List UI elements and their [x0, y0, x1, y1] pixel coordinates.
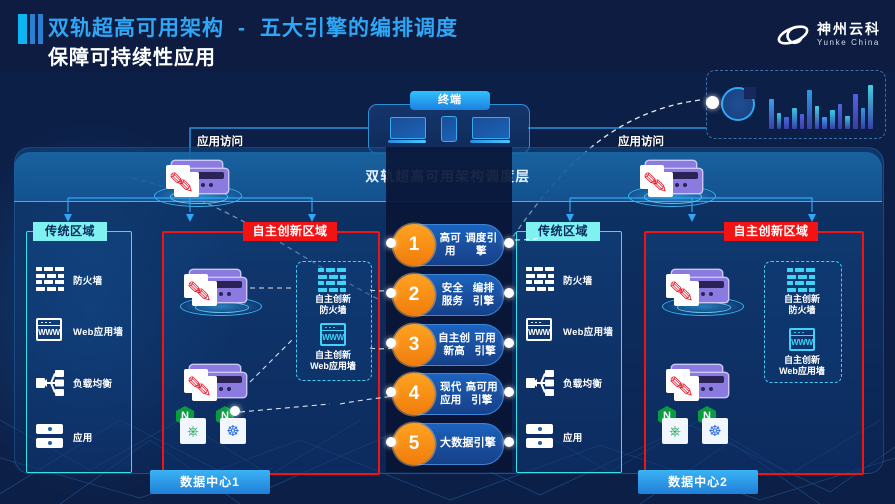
title-dash: -: [224, 17, 260, 40]
appliance-dc2-a: ✎ ✎: [666, 270, 728, 304]
service-label: 防火墙: [73, 273, 102, 287]
connector-node-dc1: [230, 406, 240, 416]
service-firewall-dc2: 防火墙: [526, 267, 592, 293]
service-label: Web应用墙: [73, 324, 123, 338]
brand-swirl-icon: ✎: [178, 178, 194, 197]
service-loadbalancer-dc2: 负载均衡: [526, 370, 602, 396]
kubernetes-icon-dc1: ☸: [220, 418, 246, 444]
datacenter-label-1: 数据中心1: [150, 470, 270, 494]
laptop-icon-left: [388, 117, 426, 143]
firewall-icon: [36, 267, 64, 293]
engine-connector-node-right: [504, 437, 514, 447]
application-icon: [526, 424, 554, 450]
application-icon: [36, 424, 64, 450]
engine-number-badge: 4: [393, 373, 435, 415]
service-mesh-icon-dc1: ⎈: [180, 418, 206, 444]
datacenter-label-2: 数据中心2: [638, 470, 758, 494]
page-title: 双轨超高可用架构-五大引擎的编排调度: [48, 12, 458, 42]
laptop-icon-right: [470, 117, 510, 143]
engine-number-badge: 2: [393, 274, 435, 316]
service-waf-dc1: WWW Web应用墙: [36, 318, 123, 344]
kubernetes-icon-dc2: ☸: [702, 418, 728, 444]
slide-canvas: 双轨超高可用架构-五大引擎的编排调度 保障可持续性应用 神州云科 Yunke C…: [0, 0, 895, 504]
appliance-dc1-b: ✎ ✎: [184, 365, 246, 399]
engine-label: 安全服务编排引擎: [437, 275, 499, 315]
engine-item-1[interactable]: 1高可用调度引擎: [394, 224, 504, 266]
donut-chart-icon: [721, 87, 755, 121]
engine-label: 大数据引擎: [437, 424, 499, 464]
engine-item-4[interactable]: 4现代应用高可用引擎: [394, 373, 504, 415]
bar: [769, 99, 774, 129]
innovation-zone-label-dc2: 自主创新区域: [724, 222, 818, 241]
page-subtitle: 保障可持续性应用: [48, 41, 216, 70]
engine-connector-node-right: [504, 387, 514, 397]
engine-connector-node: [386, 338, 396, 348]
bar: [838, 104, 843, 129]
bar: [822, 117, 827, 129]
engine-connector-node: [386, 437, 396, 447]
bar: [853, 94, 858, 129]
bar: [792, 108, 797, 129]
innovation-firewall-caption-dc1: 自主创新防火墙: [296, 294, 370, 317]
appliance-scheduler-right: ✎ ✎: [640, 161, 702, 195]
service-label: 负载均衡: [563, 376, 602, 390]
engine-connector-node: [386, 238, 396, 248]
load-balancer-icon: [36, 370, 64, 396]
service-label: 负载均衡: [73, 376, 112, 390]
brand-swirl-icon: ✎: [652, 178, 668, 197]
bar: [777, 113, 782, 129]
bar: [830, 110, 835, 129]
logo-text-cn: 神州云科: [817, 22, 881, 37]
service-label: 应用: [563, 430, 583, 444]
engine-connector-node-right: [504, 238, 514, 248]
waf-icon-dc2-inner: WWW: [789, 328, 817, 354]
bar: [800, 114, 805, 129]
service-application-dc2: 应用: [526, 424, 583, 450]
phone-icon: [441, 116, 455, 142]
waf-icon-dc1-inner: WWW: [320, 323, 348, 349]
engine-label: 现代应用高可用引擎: [437, 374, 499, 414]
engine-number-badge: 1: [393, 224, 435, 266]
logo-text-en: Yunke China: [817, 37, 881, 48]
bigdata-widget: [706, 70, 886, 139]
engine-item-5[interactable]: 5大数据引擎: [394, 423, 504, 465]
engine-connector-node: [386, 387, 396, 397]
traditional-zone-label-dc2: 传统区域: [526, 222, 600, 241]
engine-connector-node: [386, 288, 396, 298]
engine-label: 高可用调度引擎: [437, 225, 499, 265]
header: 双轨超高可用架构-五大引擎的编排调度 保障可持续性应用 神州云科 Yunke C…: [0, 0, 895, 72]
bar: [845, 116, 850, 129]
appliance-dc2-b: ✎ ✎: [666, 365, 728, 399]
engine-number-badge: 5: [393, 423, 435, 465]
engine-number-badge: 3: [393, 324, 435, 366]
traditional-zone-label-dc1: 传统区域: [33, 222, 107, 241]
innovation-waf-caption-dc2: 自主创新Web应用墙: [764, 355, 840, 378]
service-label: 应用: [73, 430, 93, 444]
service-label: Web应用墙: [563, 324, 613, 338]
bar: [784, 117, 789, 129]
terminal-badge: 终端: [410, 91, 490, 110]
firewall-icon: [526, 267, 554, 293]
title-sub: 五大引擎的编排调度: [260, 17, 458, 40]
engine-connector-node-right: [504, 338, 514, 348]
logo-swoosh-icon: [776, 22, 810, 48]
engine-connector-node-right: [504, 288, 514, 298]
firewall-icon-dc2-inner: [787, 268, 815, 294]
bar-chart: [769, 81, 873, 129]
title-main: 双轨超高可用架构: [48, 17, 224, 40]
innovation-firewall-caption-dc2: 自主创新防火墙: [764, 294, 840, 317]
bar: [861, 108, 866, 129]
service-loadbalancer-dc1: 负载均衡: [36, 370, 112, 396]
bigdata-connector-node: [706, 96, 719, 109]
service-mesh-icon-dc2: ⎈: [662, 418, 688, 444]
engine-item-2[interactable]: 2安全服务编排引擎: [394, 274, 504, 316]
header-accent-bars: [18, 14, 43, 44]
service-application-dc1: 应用: [36, 424, 93, 450]
service-label: 防火墙: [563, 273, 592, 287]
appliance-scheduler-left: ✎ ✎: [166, 161, 228, 195]
bar: [815, 106, 820, 129]
waf-icon: WWW: [526, 318, 554, 344]
appliance-dc1-a: ✎ ✎: [184, 270, 246, 304]
waf-icon: WWW: [36, 318, 64, 344]
load-balancer-icon: [526, 370, 554, 396]
innovation-zone-label-dc1: 自主创新区域: [243, 222, 337, 241]
innovation-waf-caption-dc1: 自主创新Web应用墙: [296, 350, 370, 373]
brand-logo: 神州云科 Yunke China: [776, 22, 881, 48]
service-firewall-dc1: 防火墙: [36, 267, 102, 293]
engine-item-3[interactable]: 3自主创新高可用引擎: [394, 324, 504, 366]
bar: [807, 90, 812, 129]
bar: [868, 85, 873, 129]
firewall-icon-dc1-inner: [318, 268, 346, 294]
service-waf-dc2: WWW Web应用墙: [526, 318, 613, 344]
engine-label: 自主创新高可用引擎: [437, 325, 499, 365]
